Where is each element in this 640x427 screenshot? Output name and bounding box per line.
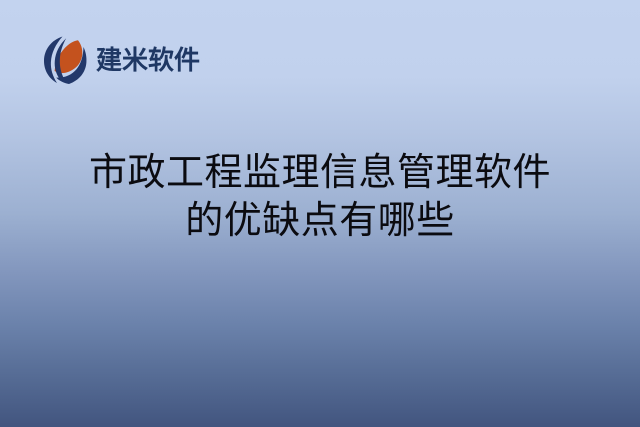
jianmi-swoosh-logo-icon <box>42 34 90 86</box>
slide-canvas: 建米软件 市政工程监理信息管理软件 的优缺点有哪些 <box>0 0 640 427</box>
slide-title: 市政工程监理信息管理软件 的优缺点有哪些 <box>0 148 640 244</box>
brand-wordmark: 建米软件 <box>96 48 200 74</box>
title-line-2: 的优缺点有哪些 <box>0 196 640 244</box>
brand-logo[interactable]: 建米软件 <box>42 33 200 87</box>
title-line-1: 市政工程监理信息管理软件 <box>0 148 640 196</box>
